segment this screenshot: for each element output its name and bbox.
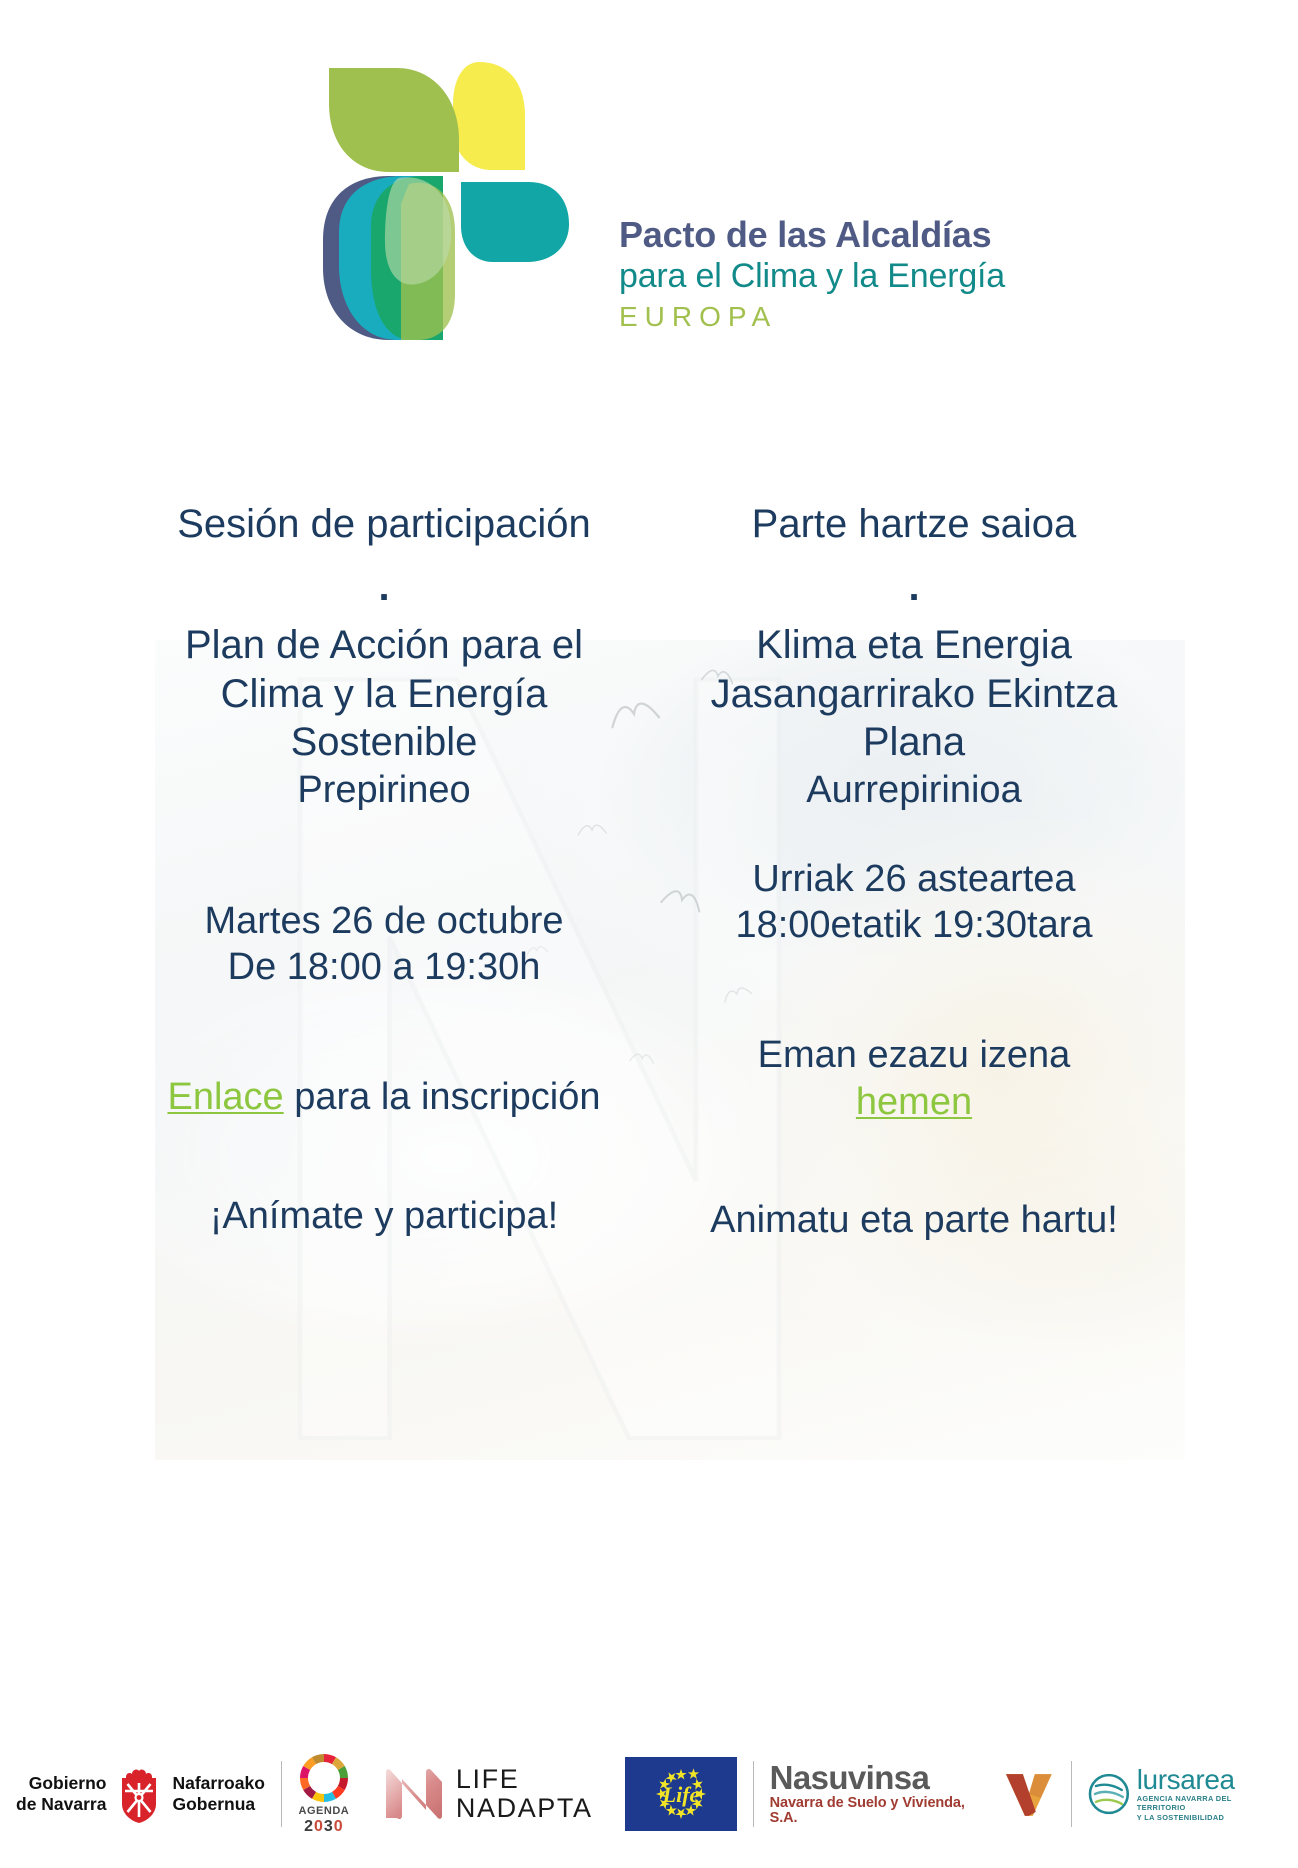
- svg-text:Life: Life: [661, 1782, 699, 1807]
- gobierno-navarra-basque-text: Nafarroako Gobernua: [172, 1773, 264, 1816]
- separator-dot-spanish: .: [378, 567, 389, 607]
- call-to-action-basque: Animatu eta parte hartu!: [710, 1197, 1118, 1243]
- nasuvinsa-wordmark: Nasuvinsa Navarra de Suelo y Vivienda, S…: [770, 1761, 996, 1826]
- heading-spanish: Sesión de participación: [177, 500, 591, 549]
- lursarea-circle-icon: [1088, 1773, 1130, 1815]
- logo-wordmark: Pacto de las Alcaldías para el Clima y l…: [619, 214, 1005, 334]
- nasuvinsa-chevron-icon: [1003, 1768, 1055, 1820]
- poster-root: Pacto de las Alcaldías para el Clima y l…: [0, 0, 1298, 1868]
- logo-line-1: Pacto de las Alcaldías: [619, 214, 991, 256]
- footer-logo-strip: Gobierno de Navarra: [0, 1738, 1298, 1850]
- region-spanish: Prepirineo: [297, 767, 470, 813]
- region-basque: Aurrepirinioa: [806, 767, 1021, 813]
- heading-basque: Parte hartze saioa: [752, 500, 1077, 549]
- eu-life-flag-icon: Life: [625, 1757, 737, 1831]
- logo-life-nadapta: LIFE NADAPTA: [366, 1751, 609, 1837]
- registration-link-basque[interactable]: hemen: [856, 1081, 972, 1123]
- event-date-basque: Urriak 26 asteartea: [752, 856, 1075, 902]
- nadapta-n-icon: [382, 1766, 446, 1822]
- lursarea-wordmark: lursarea AGENCIA NAVARRA DEL TERRITORIO …: [1137, 1766, 1282, 1822]
- registration-text-basque: Eman ezazu izenahemen: [758, 1032, 1071, 1125]
- logo-line-3-europa: EUROPA: [619, 299, 777, 334]
- registration-pre-basque: Eman ezazu izena: [758, 1034, 1071, 1076]
- logo-line-2: para el Clima y la Energía: [619, 256, 1005, 297]
- agenda-label: AGENDA: [299, 1806, 350, 1817]
- sdg-color-wheel-icon: [298, 1752, 350, 1804]
- logo-nasuvinsa: Nasuvinsa Navarra de Suelo y Vivienda, S…: [754, 1751, 1071, 1837]
- event-time-basque: 18:00etatik 19:30tara: [735, 902, 1092, 948]
- covenant-of-mayors-logo: Pacto de las Alcaldías para el Clima y l…: [0, 34, 1298, 364]
- separator-dot-basque: .: [908, 567, 919, 607]
- logo-gobierno-de-navarra: Gobierno de Navarra: [0, 1751, 281, 1837]
- registration-link-spanish[interactable]: Enlace: [167, 1076, 283, 1118]
- gobierno-navarra-spanish-text: Gobierno de Navarra: [16, 1773, 106, 1816]
- column-spanish: Sesión de participación . Plan de Acción…: [129, 500, 649, 1239]
- bilingual-content: Sesión de participación . Plan de Acción…: [60, 500, 1238, 1610]
- plan-title-basque: Klima eta Energia Jasangarrirako Ekintza…: [659, 621, 1169, 767]
- registration-rest-spanish: para la inscripción: [284, 1076, 601, 1118]
- logo-lursarea: lursarea AGENCIA NAVARRA DEL TERRITORIO …: [1072, 1751, 1298, 1837]
- sprout-leaf-logo-icon: [293, 44, 593, 344]
- event-date-spanish: Martes 26 de octubre: [204, 898, 563, 944]
- plan-title-spanish: Plan de Acción para el Clima y la Energí…: [129, 621, 639, 767]
- agenda-year: 2030: [304, 1819, 344, 1836]
- event-time-spanish: De 18:00 a 19:30h: [228, 944, 541, 990]
- logo-agenda-2030: AGENDA 2030: [282, 1751, 366, 1837]
- life-nadapta-wordmark: LIFE NADAPTA: [456, 1765, 593, 1822]
- call-to-action-spanish: ¡Anímate y participa!: [210, 1193, 558, 1239]
- logo-eu-life: Life: [609, 1751, 753, 1837]
- registration-text-spanish: Enlace para la inscripción: [167, 1074, 600, 1120]
- navarra-coat-of-arms-icon: [116, 1764, 162, 1824]
- column-basque: Parte hartze saioa . Klima eta Energia J…: [649, 500, 1169, 1243]
